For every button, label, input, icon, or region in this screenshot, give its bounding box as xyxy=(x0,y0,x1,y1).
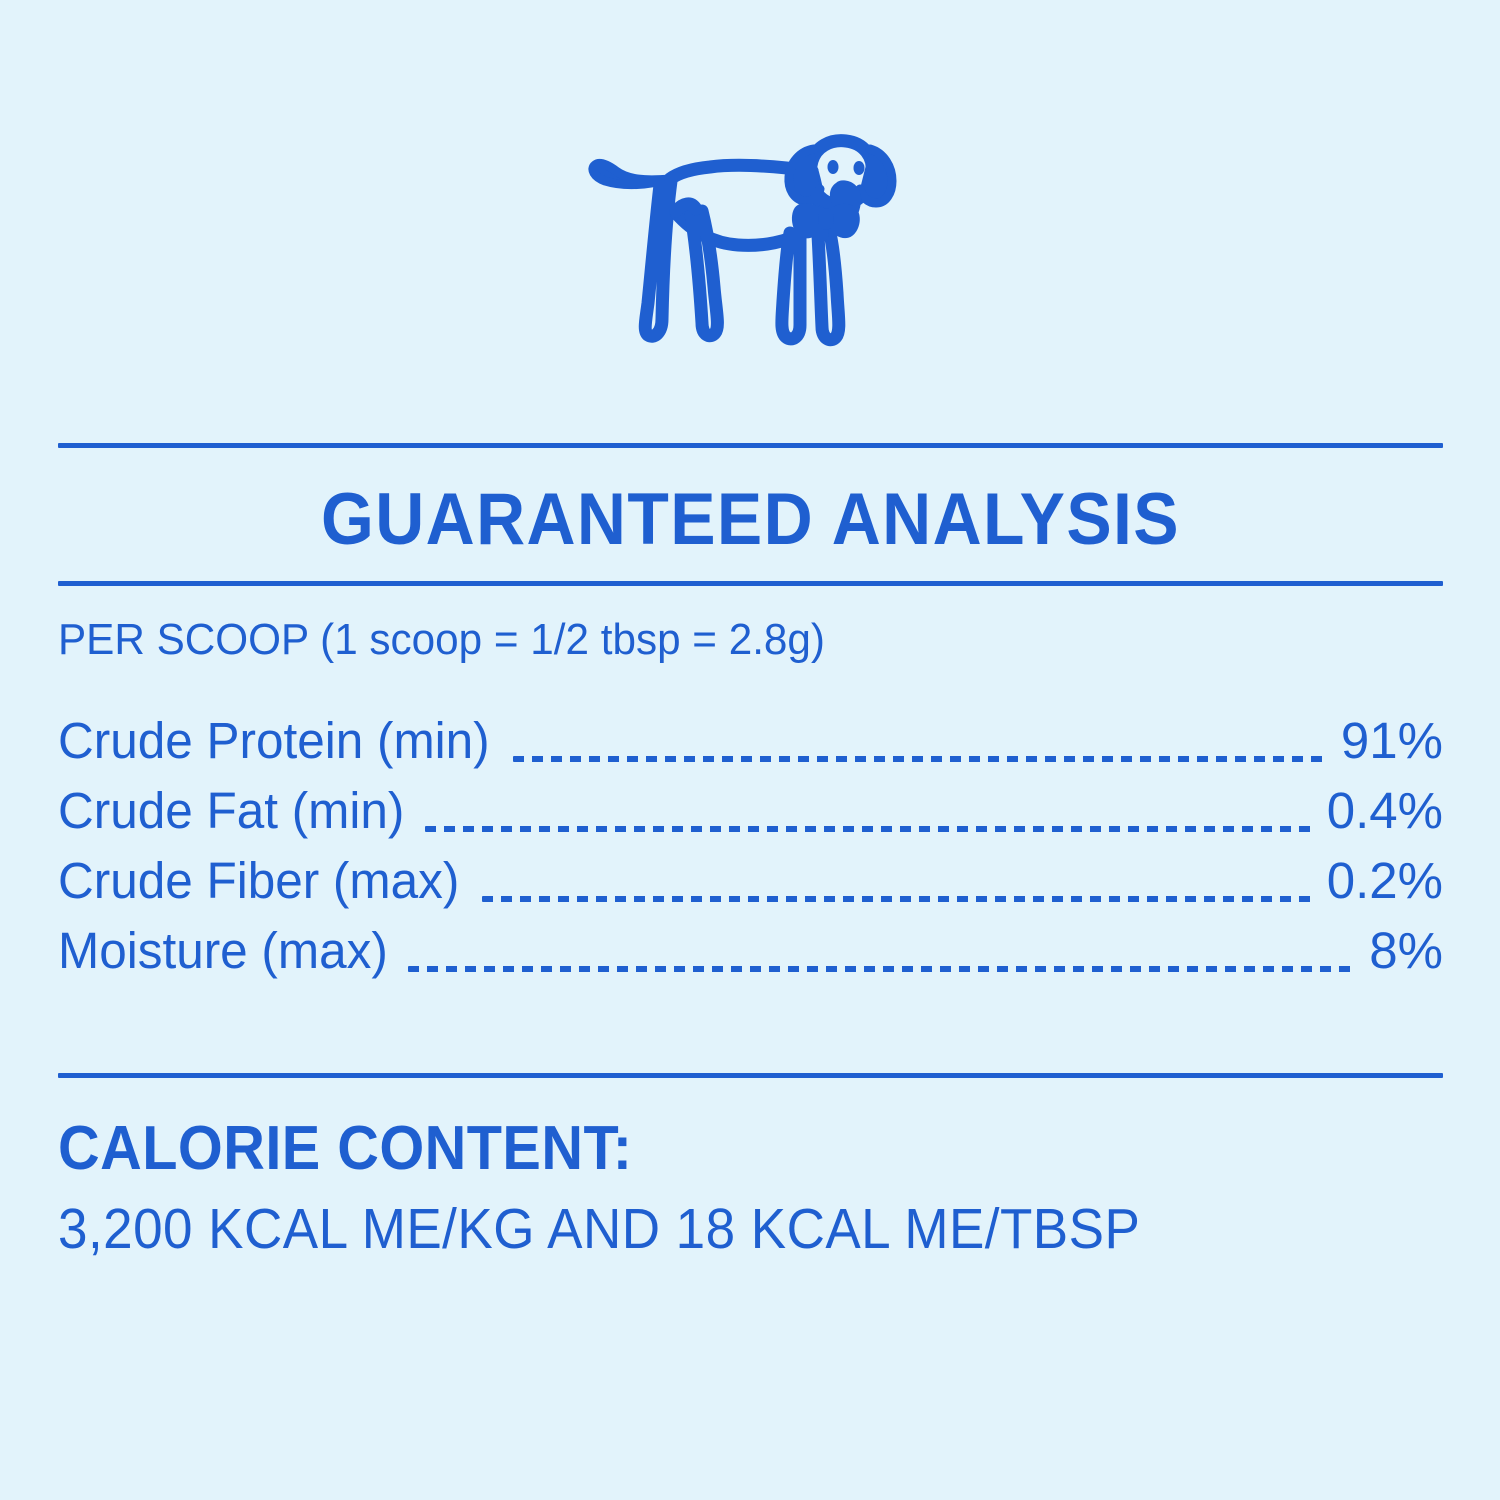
analysis-row-label: Crude Protein (min) xyxy=(58,706,490,776)
dotted-leader xyxy=(513,754,1327,762)
calorie-content-heading: CALORIE CONTENT: xyxy=(58,1110,632,1188)
analysis-row-value: 91% xyxy=(1341,706,1443,776)
analysis-row-value: 0.4% xyxy=(1327,776,1443,846)
dotted-leader xyxy=(425,824,1313,832)
analysis-row: Moisture (max) 8% xyxy=(58,916,1443,986)
divider-top xyxy=(58,443,1443,448)
per-scoop-note: PER SCOOP (1 scoop = 1/2 tbsp = 2.8g) xyxy=(58,612,825,668)
analysis-row-label: Crude Fiber (max) xyxy=(58,846,459,916)
analysis-row-label: Crude Fat (min) xyxy=(58,776,404,846)
analysis-row-value: 8% xyxy=(1369,916,1443,986)
analysis-row: Crude Fat (min) 0.4% xyxy=(58,776,1443,846)
guaranteed-analysis-list: Crude Protein (min) 91% Crude Fat (min) … xyxy=(58,706,1443,986)
divider-under-title xyxy=(58,581,1443,586)
analysis-row: Crude Protein (min) 91% xyxy=(58,706,1443,776)
analysis-row-label: Moisture (max) xyxy=(58,916,388,986)
dotted-leader xyxy=(408,964,1355,972)
page-title: GUARANTEED ANALYSIS xyxy=(106,470,1394,570)
dotted-leader xyxy=(482,894,1313,902)
dog-with-bowtie-icon xyxy=(0,118,1500,418)
analysis-row: Crude Fiber (max) 0.2% xyxy=(58,846,1443,916)
divider-above-calories xyxy=(58,1073,1443,1078)
guaranteed-analysis-panel: GUARANTEED ANALYSIS PER SCOOP (1 scoop =… xyxy=(0,0,1500,1500)
calorie-content-detail: 3,200 KCAL ME/KG AND 18 KCAL ME/TBSP xyxy=(58,1192,1140,1266)
analysis-row-value: 0.2% xyxy=(1327,846,1443,916)
